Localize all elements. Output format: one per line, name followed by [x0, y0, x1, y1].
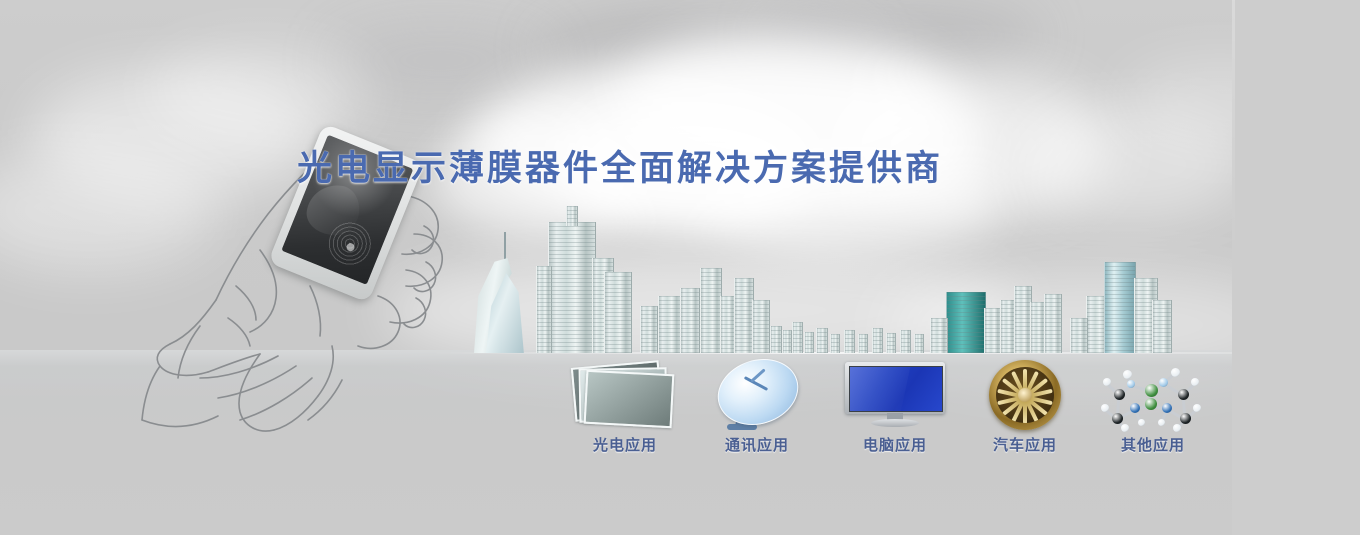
background-edge-highlight	[1232, 0, 1235, 250]
category-item-other[interactable]: 其他应用	[1088, 358, 1218, 468]
category-label: 其他应用	[1088, 434, 1218, 455]
glass-film-stack-icon	[560, 358, 690, 430]
computer-monitor-icon	[830, 358, 960, 430]
category-label: 通讯应用	[692, 434, 822, 455]
satellite-dish-icon	[692, 358, 822, 430]
category-item-computer[interactable]: 电脑应用	[830, 358, 960, 468]
category-item-automotive[interactable]: 汽车应用	[960, 358, 1090, 468]
category-label: 电脑应用	[830, 434, 960, 455]
category-label: 汽车应用	[960, 434, 1090, 455]
page-title: 光电显示薄膜器件全面解决方案提供商	[0, 140, 1240, 191]
application-category-row: 光电应用 通讯应用	[560, 358, 1220, 468]
molecule-model-icon	[1088, 358, 1218, 430]
category-item-optoelectronic[interactable]: 光电应用	[560, 358, 690, 468]
hero-banner: 光电显示薄膜器件全面解决方案提供商 光电应用	[0, 0, 1360, 535]
category-item-communication[interactable]: 通讯应用	[692, 358, 822, 468]
category-label: 光电应用	[560, 434, 690, 455]
background-edge	[1232, 0, 1360, 535]
car-wheel-rim-icon	[960, 358, 1090, 430]
